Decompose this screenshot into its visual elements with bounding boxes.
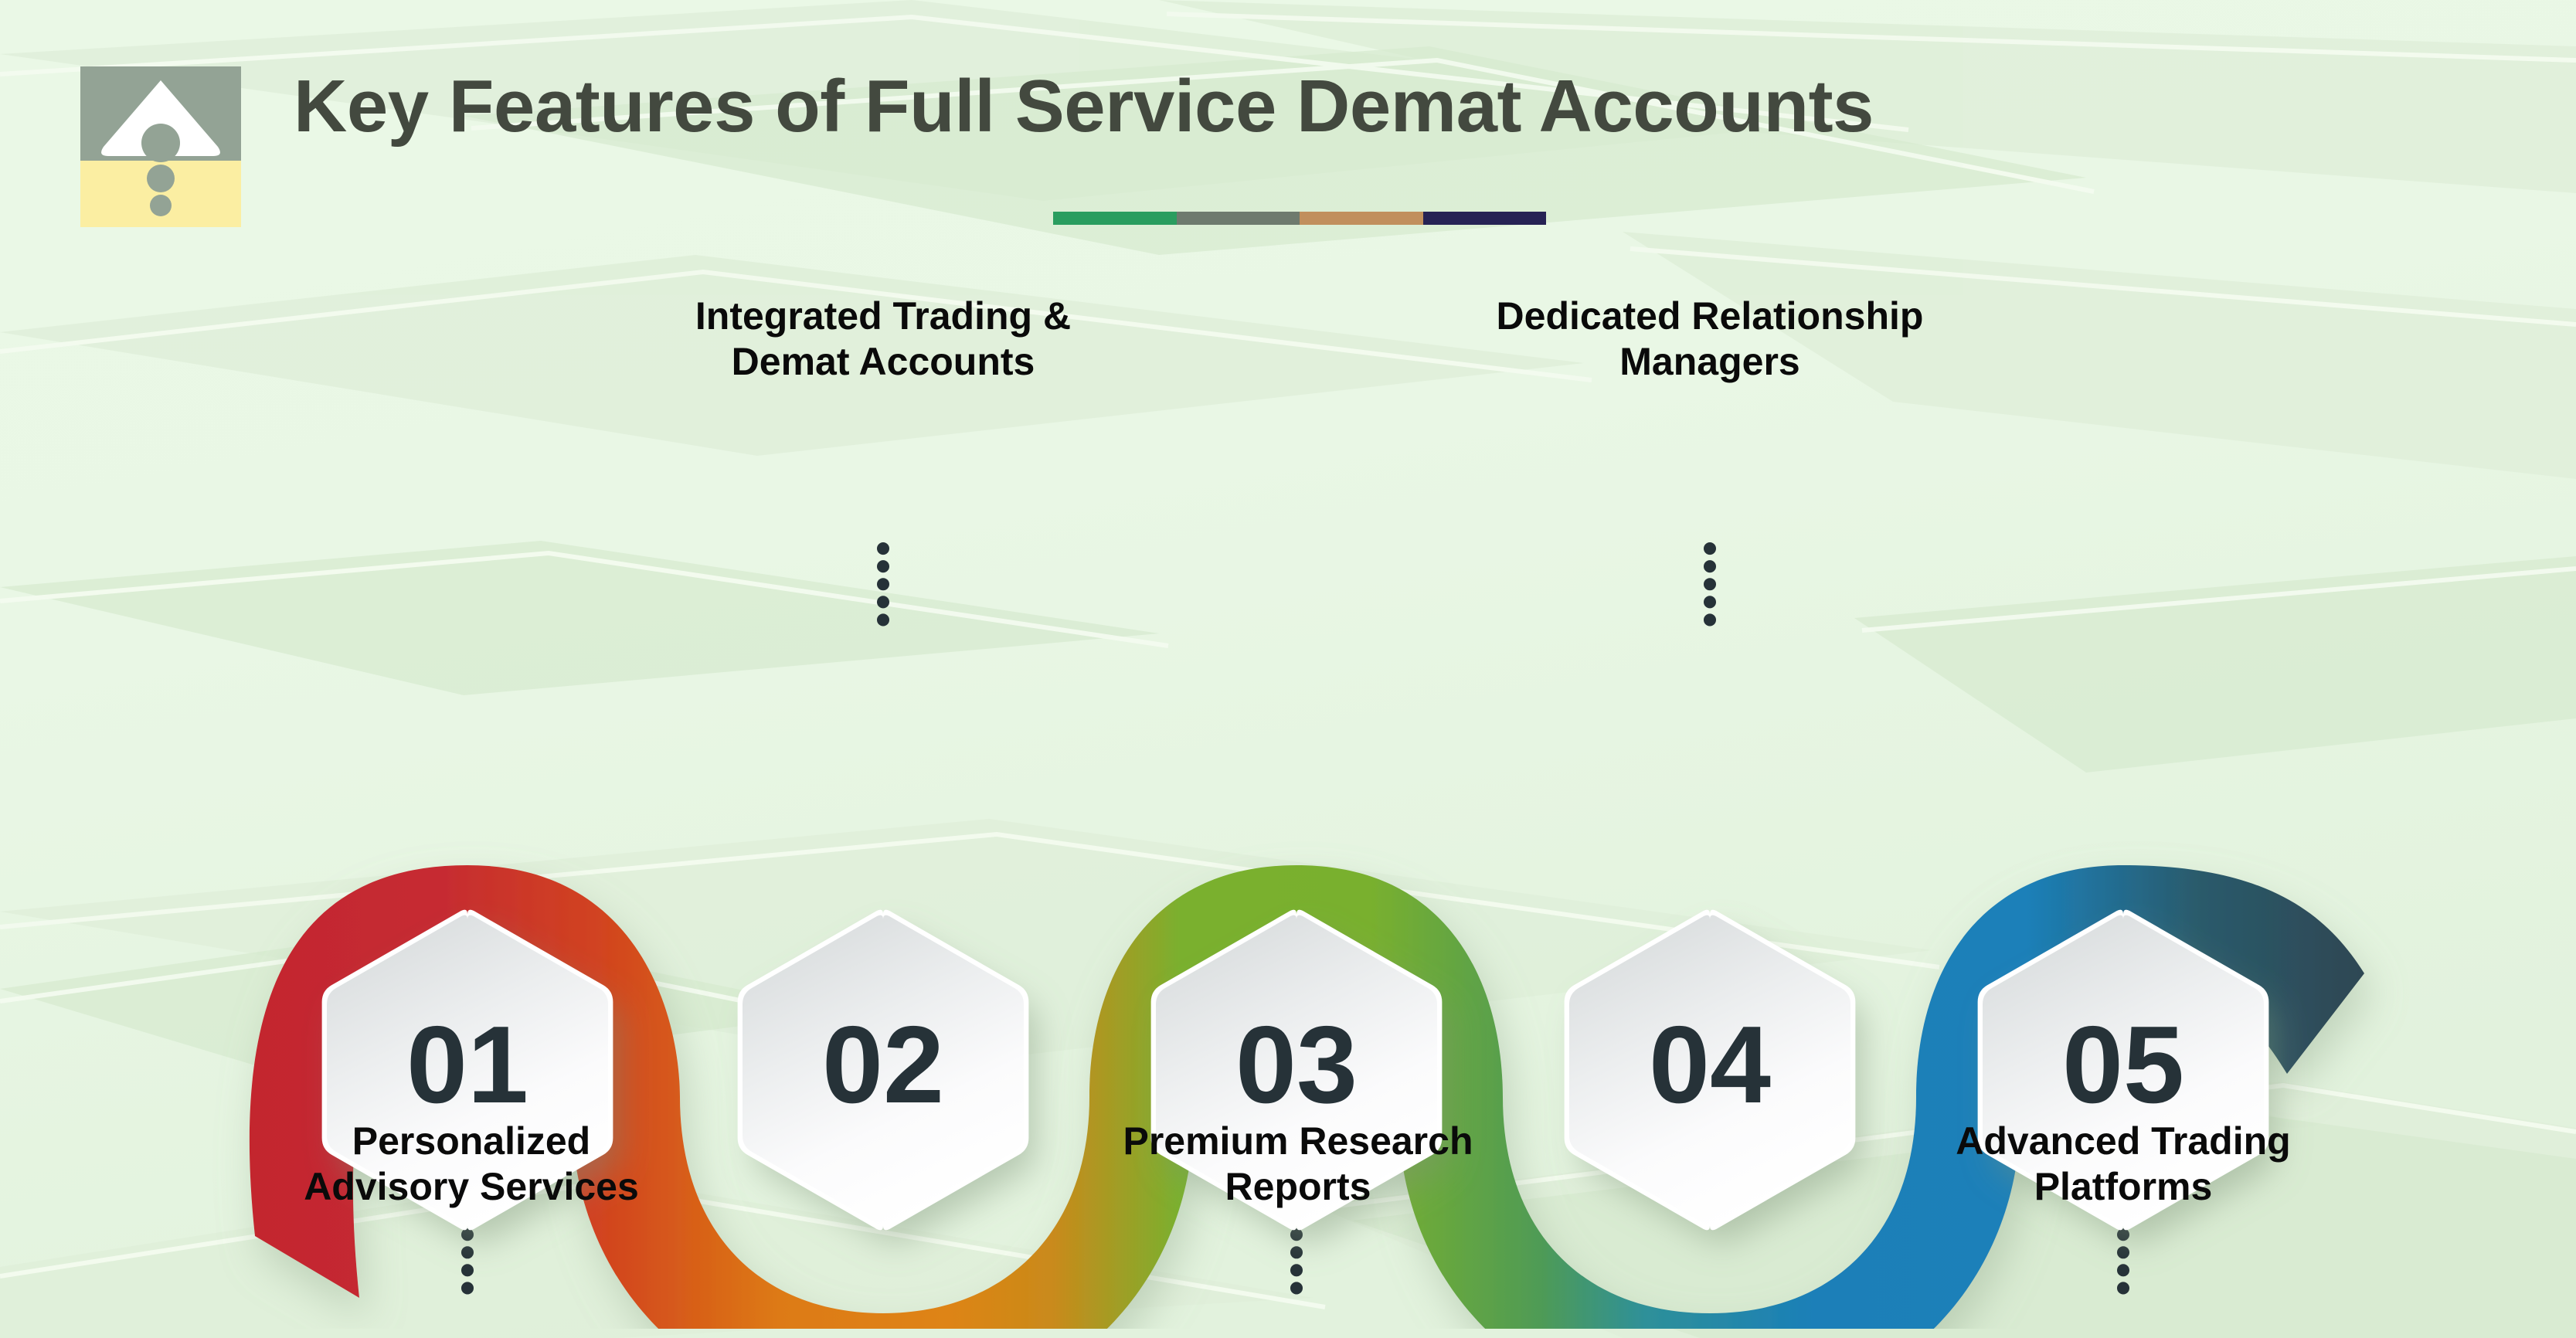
step-label-3-line1: Premium Research xyxy=(1012,1119,1584,1164)
step-badge-2[interactable]: 02 xyxy=(738,910,1029,1231)
step-label-2-line1: Integrated Trading & xyxy=(597,294,1169,339)
step-label-2-line2: Demat Accounts xyxy=(597,339,1169,385)
step-label-1: Personalized Advisory Services xyxy=(185,1119,757,1210)
step-label-5: Advanced Trading Platforms xyxy=(1837,1119,2409,1210)
logo-dot-large-icon xyxy=(147,165,175,192)
logo-dot-small-icon xyxy=(150,195,172,216)
step-label-4-line1: Dedicated Relationship xyxy=(1424,294,1996,339)
step-label-4: Dedicated Relationship Managers xyxy=(1424,294,1996,385)
step-label-3: Premium Research Reports xyxy=(1012,1119,1584,1210)
brand-logo xyxy=(80,66,241,227)
step-label-5-line1: Advanced Trading xyxy=(1837,1119,2409,1164)
divider-segment-3 xyxy=(1300,212,1423,225)
divider-segment-2 xyxy=(1177,212,1300,225)
triangle-inner-dot-icon xyxy=(141,124,180,162)
step-number-3: 03 xyxy=(1235,1003,1358,1126)
step-label-3-line2: Reports xyxy=(1012,1164,1584,1210)
infographic-canvas: Key Features of Full Service Demat Accou… xyxy=(0,0,2576,1338)
page-title: Key Features of Full Service Demat Accou… xyxy=(294,68,2272,146)
step-label-1-line2: Advisory Services xyxy=(185,1164,757,1210)
divider-segment-4 xyxy=(1423,212,1547,225)
step-number-4: 04 xyxy=(1649,1003,1771,1126)
step-number-5: 05 xyxy=(2062,1003,2184,1126)
step-label-2: Integrated Trading & Demat Accounts xyxy=(597,294,1169,385)
step-badge-4[interactable]: 04 xyxy=(1565,910,1856,1231)
step-number-1: 01 xyxy=(406,1003,528,1126)
title-divider xyxy=(1053,212,1546,225)
divider-segment-1 xyxy=(1053,212,1177,225)
step-label-1-line1: Personalized xyxy=(185,1119,757,1164)
step-number-2: 02 xyxy=(822,1003,944,1126)
step-label-4-line2: Managers xyxy=(1424,339,1996,385)
step-label-5-line2: Platforms xyxy=(1837,1164,2409,1210)
